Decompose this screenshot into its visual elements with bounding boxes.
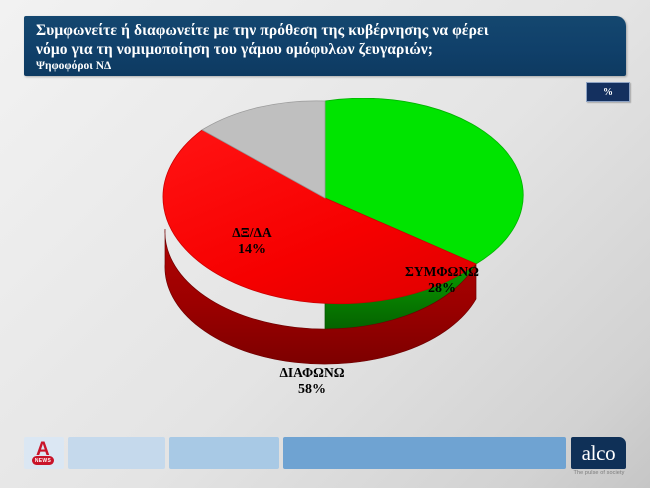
- footer-segment-2: [169, 437, 279, 469]
- footer-alpha-logo-segment: A NEWS: [24, 437, 64, 469]
- alpha-news-pill-label: NEWS: [32, 456, 54, 465]
- pie-chart: ΔΞ/ΔΑ 14% ΣΥΜΦΩΝΩ 28% ΔΙΑΦΩΝΩ 58%: [0, 98, 650, 418]
- footer-bar: A NEWS alco The pulse of society: [0, 437, 650, 469]
- alpha-news-logo: A NEWS: [24, 437, 64, 469]
- alco-logo: alco: [571, 437, 626, 469]
- footer-segment-3: [283, 437, 566, 469]
- alco-tagline: The pulse of society: [571, 470, 627, 476]
- header-band: Συμφωνείτε ή διαφωνείτε με την πρόθεση τ…: [24, 16, 626, 76]
- alco-wordmark: alco: [582, 443, 616, 464]
- footer-segment-1: [68, 437, 165, 469]
- sample-subtitle: Ψηφοφόροι ΝΔ: [36, 59, 626, 74]
- question-title-line-1: Συμφωνείτε ή διαφωνείτε με την πρόθεση τ…: [36, 21, 626, 40]
- slide-canvas: Συμφωνείτε ή διαφωνείτε με την πρόθεση τ…: [0, 0, 650, 488]
- question-title-line-2: νόμο για τη νομιμοποίηση του γάμου ομόφυ…: [36, 40, 626, 59]
- pie-chart-svg: [0, 98, 650, 418]
